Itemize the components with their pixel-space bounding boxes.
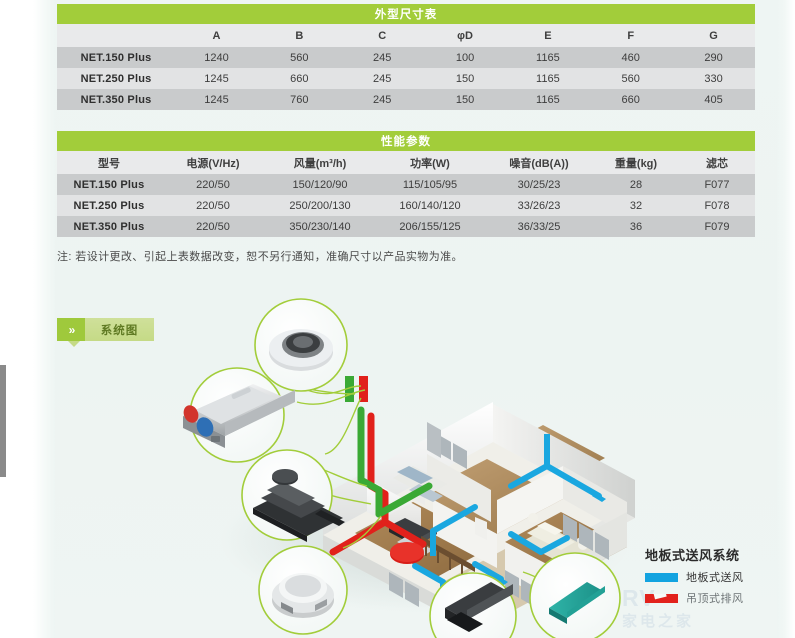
cell-c: 245 — [341, 68, 424, 89]
cell-airflow: 250/200/130 — [265, 195, 375, 216]
cell-e: 1165 — [506, 47, 589, 68]
performance-header-row: 型号 电源(V/Hz) 风量(m³/h) 功率(W) 噪音(dB(A)) 重量(… — [57, 151, 755, 174]
performance-col-head-airflow: 风量(m³/h) — [265, 151, 375, 174]
dimensions-col-head-g: G — [672, 24, 755, 47]
cell-e: 1165 — [506, 89, 589, 110]
legend-title: 地板式送风系统 — [645, 545, 791, 564]
cell-e: 1165 — [506, 68, 589, 89]
cell-filter: F078 — [679, 195, 755, 216]
performance-table: 性能参数 型号 电源(V/Hz) 风量(m³/h) 功率(W) 噪音(dB(A)… — [57, 131, 755, 237]
cell-noise: 30/25/23 — [485, 174, 593, 195]
cell-power: 115/105/95 — [375, 174, 485, 195]
cell-airflow: 150/120/90 — [265, 174, 375, 195]
cell-c: 245 — [341, 47, 424, 68]
legend-item-exhaust: 吊顶式排风 — [645, 590, 791, 606]
cell-model: NET.150 Plus — [57, 47, 175, 68]
dimensions-col-head-phid: φD — [424, 24, 507, 47]
cell-power-supply: 220/50 — [161, 216, 265, 237]
dimensions-col-head-f: F — [589, 24, 672, 47]
cell-filter: F077 — [679, 174, 755, 195]
callout-floor-grille — [530, 553, 620, 638]
cell-model: NET.350 Plus — [57, 216, 161, 237]
double-chevron-right-icon: » — [57, 318, 85, 341]
dimensions-table-title: 外型尺寸表 — [57, 4, 755, 24]
cell-weight: 32 — [593, 195, 679, 216]
system-diagram-badge[interactable]: » 系统图 — [57, 318, 154, 341]
badge-tail — [68, 341, 80, 347]
legend-item-supply: 地板式送风 — [645, 569, 791, 585]
tables-footnote: 注: 若设计更改、引起上表数据改变，恕不另行通知，准确尺寸以产品实物为准。 — [57, 248, 757, 264]
cell-model: NET.250 Plus — [57, 195, 161, 216]
cell-phid: 150 — [424, 68, 507, 89]
cell-c: 245 — [341, 89, 424, 110]
cell-model: NET.150 Plus — [57, 174, 161, 195]
cell-weight: 28 — [593, 174, 679, 195]
cell-f: 560 — [589, 68, 672, 89]
table-row: NET.350 Plus 220/50 350/230/140 206/155/… — [57, 216, 755, 237]
cell-weight: 36 — [593, 216, 679, 237]
table-row: NET.150 Plus 1240 560 245 100 1165 460 2… — [57, 47, 755, 68]
lamp-icon — [528, 513, 538, 523]
cell-noise: 36/33/25 — [485, 216, 593, 237]
table-row: NET.250 Plus 1245 660 245 150 1165 560 3… — [57, 68, 755, 89]
cell-g: 330 — [672, 68, 755, 89]
performance-table-title: 性能参数 — [57, 131, 755, 151]
cell-power-supply: 220/50 — [161, 195, 265, 216]
performance-col-head-weight: 重量(kg) — [593, 151, 679, 174]
dimensions-col-head-b: B — [258, 24, 341, 47]
cell-a: 1245 — [175, 68, 258, 89]
cell-model: NET.250 Plus — [57, 68, 175, 89]
cell-model: NET.350 Plus — [57, 89, 175, 110]
cell-power: 160/140/120 — [375, 195, 485, 216]
cell-g: 290 — [672, 47, 755, 68]
dimensions-col-head-0 — [57, 24, 175, 47]
dimensions-col-head-e: E — [506, 24, 589, 47]
performance-col-head-noise: 噪音(dB(A)) — [485, 151, 593, 174]
cell-noise: 33/26/23 — [485, 195, 593, 216]
cell-filter: F079 — [679, 216, 755, 237]
cell-f: 460 — [589, 47, 672, 68]
performance-col-head-filter: 滤芯 — [679, 151, 755, 174]
scrollbar-track[interactable] — [0, 0, 7, 638]
page-canvas: 外型尺寸表 A B C φD E F G NET.150 Plus 1240 5… — [0, 0, 795, 638]
dimensions-col-head-a: A — [175, 24, 258, 47]
legend: 地板式送风系统 地板式送风 吊顶式排风 — [645, 545, 791, 606]
cell-airflow: 350/230/140 — [265, 216, 375, 237]
cell-power-supply: 220/50 — [161, 174, 265, 195]
dimensions-table-title-row: 外型尺寸表 — [57, 4, 755, 24]
performance-col-head-power: 功率(W) — [375, 151, 485, 174]
dimensions-col-head-c: C — [341, 24, 424, 47]
cell-b: 560 — [258, 47, 341, 68]
cell-a: 1240 — [175, 47, 258, 68]
cell-phid: 150 — [424, 89, 507, 110]
cell-g: 405 — [672, 89, 755, 110]
legend-item-exhaust-label: 吊顶式排风 — [686, 590, 744, 606]
system-diagram-badge-label: 系统图 — [85, 322, 154, 338]
cell-b: 760 — [258, 89, 341, 110]
dimensions-table: 外型尺寸表 A B C φD E F G NET.150 Plus 1240 5… — [57, 4, 755, 110]
scrollbar-thumb[interactable] — [0, 365, 6, 477]
performance-table-title-row: 性能参数 — [57, 131, 755, 151]
cell-f: 660 — [589, 89, 672, 110]
left-gutter — [7, 0, 33, 638]
table-row: NET.250 Plus 220/50 250/200/130 160/140/… — [57, 195, 755, 216]
supply-air-swatch — [645, 573, 678, 582]
table-row: NET.350 Plus 1245 760 245 150 1165 660 4… — [57, 89, 755, 110]
callout-floor-diffuser — [259, 546, 347, 634]
table-row: NET.150 Plus 220/50 150/120/90 115/105/9… — [57, 174, 755, 195]
callout-ceiling-diffuser — [255, 299, 347, 391]
performance-col-head-model: 型号 — [57, 151, 161, 174]
cell-phid: 100 — [424, 47, 507, 68]
legend-item-supply-label: 地板式送风 — [686, 569, 744, 585]
left-edge-fade — [33, 0, 55, 638]
performance-col-head-power-supply: 电源(V/Hz) — [161, 151, 265, 174]
system-diagram-illustration — [175, 290, 720, 638]
cell-b: 660 — [258, 68, 341, 89]
exhaust-air-swatch — [645, 594, 678, 603]
cell-a: 1245 — [175, 89, 258, 110]
right-edge-fade — [777, 0, 795, 638]
cell-power: 206/155/125 — [375, 216, 485, 237]
dimensions-header-row: A B C φD E F G — [57, 24, 755, 47]
